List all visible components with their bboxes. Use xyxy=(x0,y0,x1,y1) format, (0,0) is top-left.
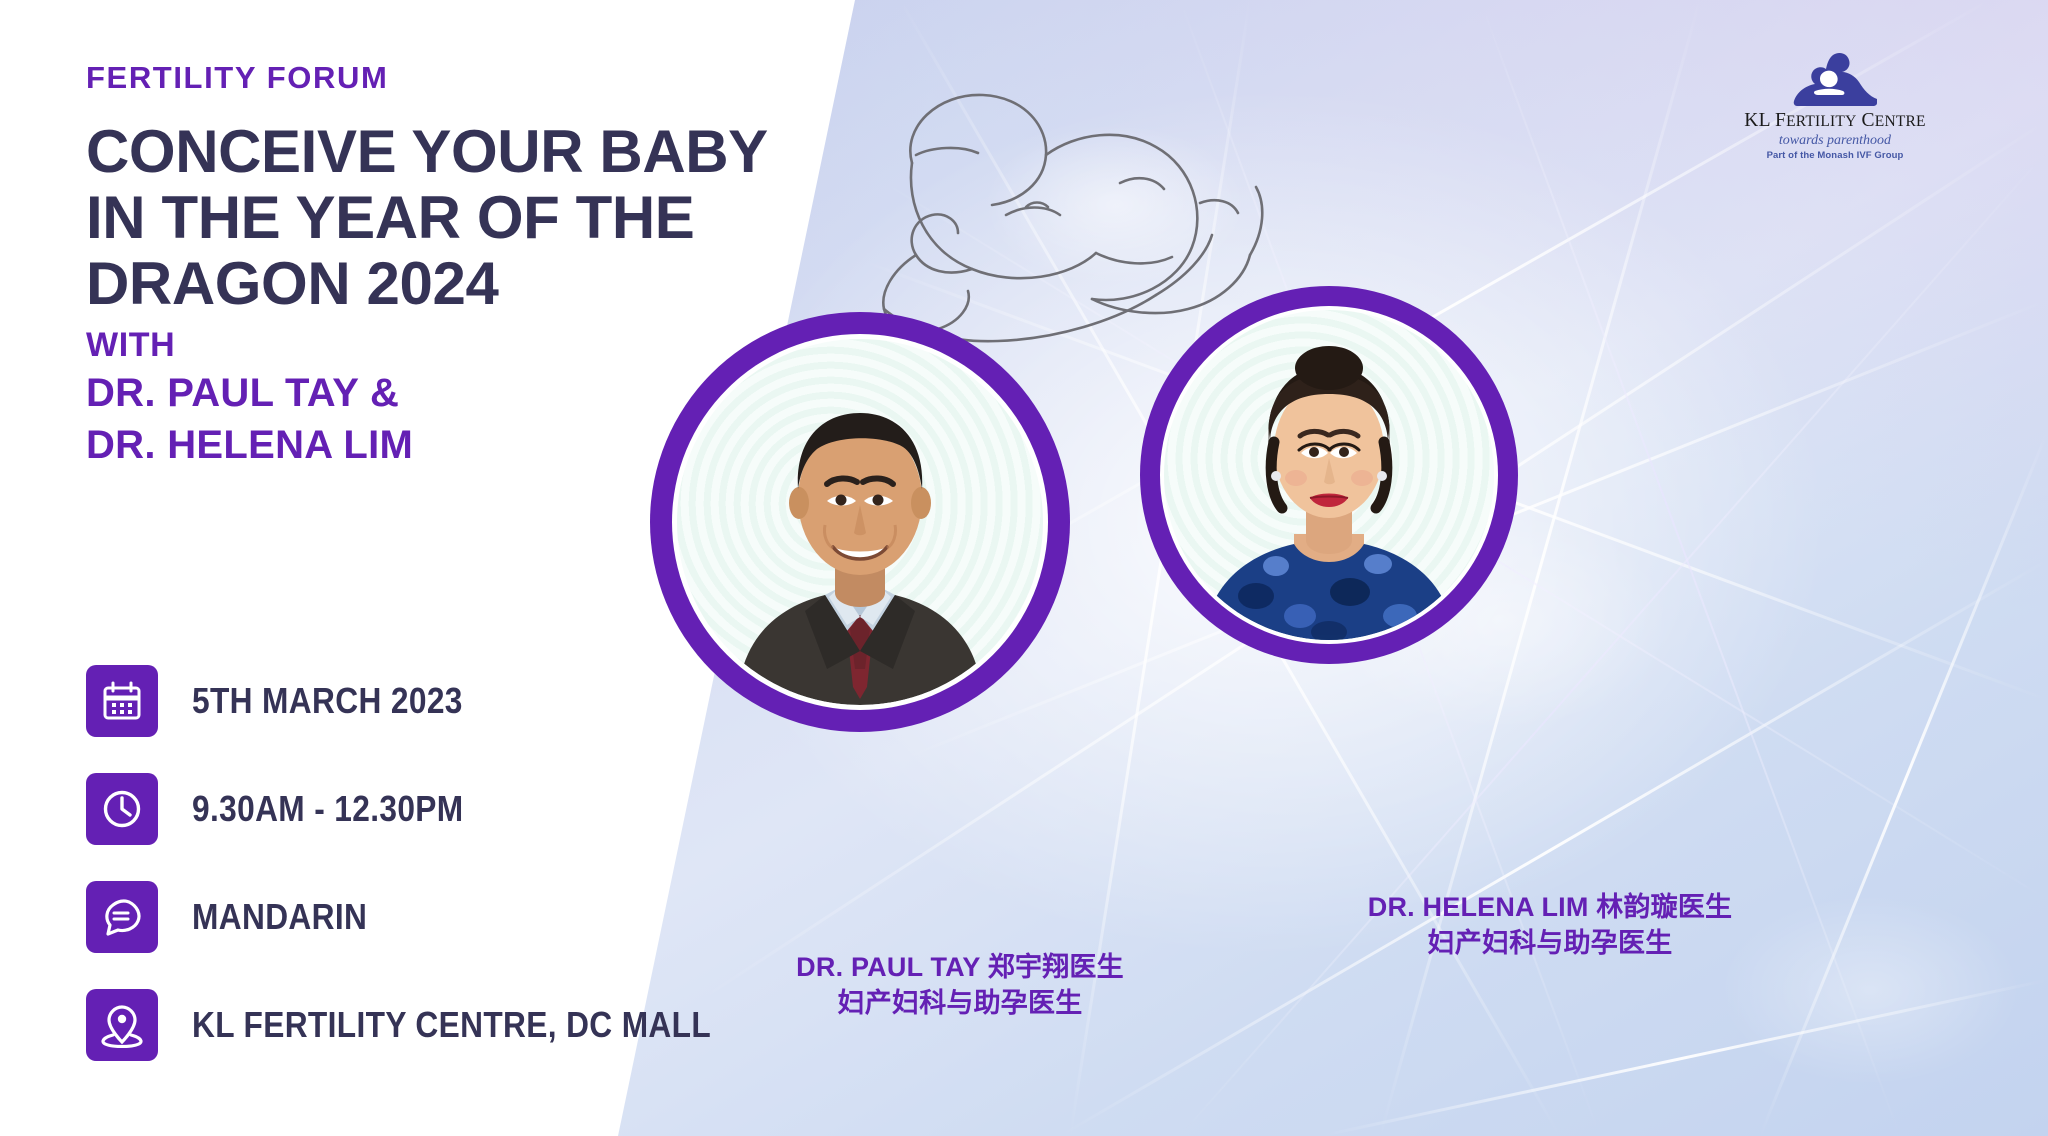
dr-paul-tay-portrait xyxy=(677,339,1043,705)
logo-name-part1: KL F xyxy=(1744,110,1786,131)
dr-paul-tay-portrait-ring xyxy=(650,312,1070,732)
detail-text-venue: KL FERTILITY CENTRE, DC MALL xyxy=(192,1004,711,1046)
location-pin-icon xyxy=(86,989,158,1061)
clock-icon xyxy=(86,773,158,845)
parent-and-child-icon xyxy=(1785,50,1885,108)
speech-bubble-icon xyxy=(86,881,158,953)
dr-helena-lim-portrait xyxy=(1164,310,1494,640)
caption-line-1-helena: DR. HELENA LIM 林韵璇医生 xyxy=(1240,890,1860,926)
portrait-illustration-helena xyxy=(1164,310,1494,640)
caption-line-1-paul: DR. PAUL TAY 郑宇翔医生 xyxy=(660,950,1260,986)
event-details-list: 5TH MARCH 2023 9.30AM - 12.30PM MANDARIN xyxy=(86,655,726,1087)
headline-line-3: DRAGON 2024 xyxy=(86,251,776,317)
detail-row-language: MANDARIN xyxy=(86,871,726,963)
with-label: WITH xyxy=(86,327,776,364)
calendar-icon xyxy=(86,665,158,737)
detail-text-date: 5TH MARCH 2023 xyxy=(192,680,463,722)
detail-row-date: 5TH MARCH 2023 xyxy=(86,655,726,747)
caption-line-2-paul: 妇产妇科与助孕医生 xyxy=(660,986,1260,1022)
dr-helena-lim-portrait-ring xyxy=(1140,286,1518,664)
logo-tagline: towards parenthood xyxy=(1740,133,1930,148)
logo-name-part4: ENTRE xyxy=(1875,113,1926,130)
headline-line-1: CONCEIVE YOUR BABY xyxy=(86,119,776,185)
portrait-illustration-paul xyxy=(677,339,1043,705)
poster-canvas: FERTILITY FORUM CONCEIVE YOUR BABY IN TH… xyxy=(0,0,2048,1136)
logo-subline: Part of the Monash IVF Group xyxy=(1740,151,1930,161)
detail-row-venue: KL FERTILITY CENTRE, DC MALL xyxy=(86,979,726,1071)
speaker-name-line-1: DR. PAUL TAY & xyxy=(86,368,776,419)
logo-name-part3: C xyxy=(1856,110,1874,131)
dr-helena-lim-caption: DR. HELENA LIM 林韵璇医生 妇产妇科与助孕医生 xyxy=(1240,890,1860,961)
eyebrow-label: FERTILITY FORUM xyxy=(86,62,776,93)
detail-text-language: MANDARIN xyxy=(192,896,367,938)
logo-name-part2: ERTILITY xyxy=(1786,113,1856,130)
detail-text-time: 9.30AM - 12.30PM xyxy=(192,788,464,830)
logo-wordmark: KL FERTILITY CENTRE xyxy=(1740,111,1930,131)
page-title: CONCEIVE YOUR BABY IN THE YEAR OF THE DR… xyxy=(86,119,776,317)
dr-paul-tay-caption: DR. PAUL TAY 郑宇翔医生 妇产妇科与助孕医生 xyxy=(660,950,1260,1021)
caption-line-2-helena: 妇产妇科与助孕医生 xyxy=(1240,926,1860,962)
headline-block: FERTILITY FORUM CONCEIVE YOUR BABY IN TH… xyxy=(86,62,776,471)
kl-fertility-centre-logo: KL FERTILITY CENTRE towards parenthood P… xyxy=(1740,50,1930,161)
headline-line-2: IN THE YEAR OF THE xyxy=(86,185,776,251)
detail-row-time: 9.30AM - 12.30PM xyxy=(86,763,726,855)
